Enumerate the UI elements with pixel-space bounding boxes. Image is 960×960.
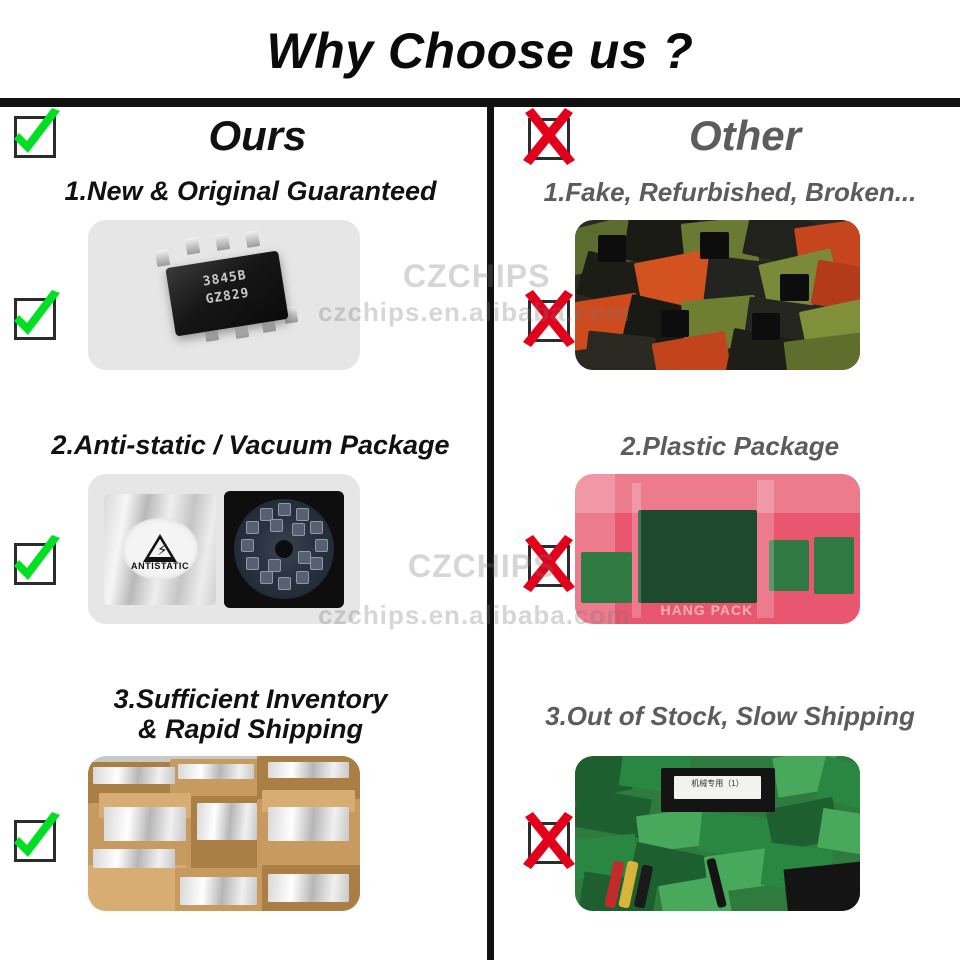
photo-ours-antistatic-package: ⚡ ANTISTATIC [88,474,360,624]
check-badge-row-2 [6,535,64,593]
row-label-other-1: 1.Fake, Refurbished, Broken... [494,178,960,207]
plastic-bag-print: HANG PACK [661,602,754,618]
cross-badge-row-2 [520,537,578,595]
row-label-ours-3: 3.Sufficient Inventory & Rapid Shipping [0,684,487,744]
module-label-text: 机械专用（1） [674,778,761,790]
photo-other-plastic-package: HANG PACK [575,474,860,624]
column-heading-ours: Ours [0,112,487,160]
column-divider [487,104,494,960]
cross-icon [520,292,578,350]
check-icon [6,535,64,593]
page-title: Why Choose us ? [0,22,960,80]
lightning-bolt-icon: ⚡ [157,543,168,558]
row-label-ours-2: 2.Anti-static / Vacuum Package [0,430,487,460]
check-icon [6,812,64,870]
infographic-canvas: Why Choose us ? Ours 1.New & Original Gu… [0,0,960,960]
photo-other-out-of-stock: 机械专用（1） [575,756,860,911]
cross-badge-row-1 [520,292,578,350]
cross-icon [520,814,578,872]
column-ours: Ours 1.New & Original Guaranteed 3845B [0,104,487,960]
check-icon [6,290,64,348]
row-ours-3: 3.Sufficient Inventory & Rapid Shipping [0,684,487,960]
antistatic-bag-label: ⚡ ANTISTATIC [122,518,198,580]
check-badge-ours-header [6,108,64,166]
cross-badge-row-3 [520,814,578,872]
photo-ours-new-original: 3845B GZ829 [88,220,360,370]
check-badge-row-1 [6,290,64,348]
row-label-other-2: 2.Plastic Package [494,432,960,461]
row-ours-2: 2.Anti-static / Vacuum Package ⚡ ANTISTA… [0,430,487,694]
cross-badge-other-header [520,110,578,168]
cross-icon [520,110,578,168]
antistatic-bag: ⚡ ANTISTATIC [104,494,216,605]
cross-icon [520,537,578,595]
module-label: 机械专用（1） [674,776,761,799]
ic-chip-marking: 3845B GZ829 [167,261,285,314]
check-icon [6,108,64,166]
row-label-ours-1: 1.New & Original Guaranteed [0,176,487,206]
photo-other-fake-chips [575,220,860,370]
check-badge-row-3 [6,812,64,870]
antistatic-text: ANTISTATIC [122,561,198,571]
photo-ours-inventory [88,756,360,911]
component-tape-reel [224,491,344,608]
row-label-other-3: 3.Out of Stock, Slow Shipping [494,702,960,731]
black-module: 机械专用（1） [661,768,775,811]
row-ours-1: 1.New & Original Guaranteed 3845B GZ829 [0,176,487,440]
